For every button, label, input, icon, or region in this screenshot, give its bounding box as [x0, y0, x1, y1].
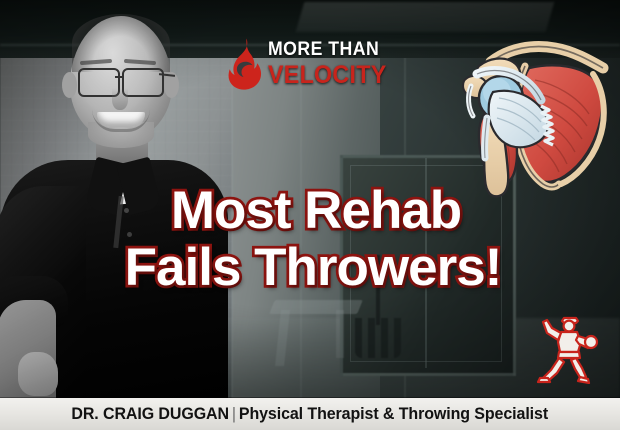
shoulder-anatomy-illustration	[437, 22, 617, 202]
doctor-headshot	[0, 0, 232, 398]
presenter-name: DR. CRAIG DUGGAN	[72, 405, 230, 423]
video-thumbnail: MORE THAN VELOCITY	[0, 0, 620, 430]
banner-separator: |	[229, 405, 239, 423]
presenter-banner: DR. CRAIG DUGGAN|Physical Therapist & Th…	[0, 398, 620, 430]
logo-line-more-than: MORE THAN	[268, 38, 387, 61]
subject-photo-edge	[0, 0, 232, 398]
flame-icon	[228, 38, 262, 90]
baseball-pitcher-icon	[534, 312, 602, 384]
logo-line-velocity: VELOCITY	[268, 61, 387, 89]
presenter-banner-text: DR. CRAIG DUGGAN|Physical Therapist & Th…	[72, 405, 549, 424]
logo-wordmark: MORE THAN VELOCITY	[268, 38, 395, 89]
presenter-title: Physical Therapist & Throwing Specialist	[239, 405, 548, 423]
more-than-velocity-logo[interactable]: MORE THAN VELOCITY	[228, 36, 398, 98]
